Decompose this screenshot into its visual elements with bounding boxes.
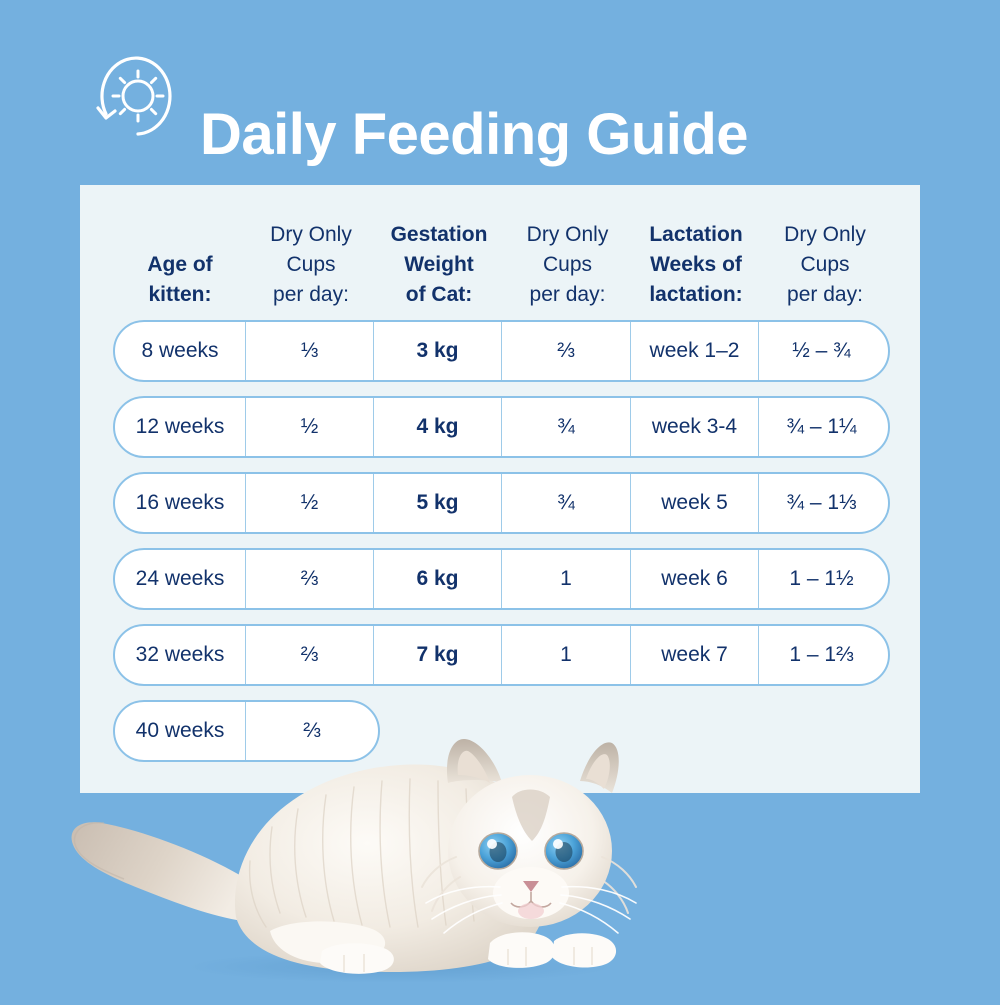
cell-kitten-cups: ½ [245, 398, 373, 456]
cell-cat-weight: 3 kg [373, 322, 501, 380]
column-header-line1: Weeks of [650, 250, 742, 280]
cell-lactation-cups: 1 – 1½ [758, 550, 884, 608]
cell-kitten-age: 12 weeks [115, 398, 245, 456]
cell-kitten-cups: ⅔ [245, 702, 378, 760]
feeding-guide-table: Age of kitten: Dry Only Cups per day: Ge… [113, 200, 890, 776]
column-header-gestation-cups: Dry Only Cups per day: [503, 220, 632, 320]
column-header-line2: per day: [530, 280, 606, 310]
cell-kitten-cups: ⅔ [245, 550, 373, 608]
column-header-top: Dry Only [527, 220, 609, 250]
column-header-line1: Cups [800, 250, 849, 280]
cell-cat-weight: 6 kg [373, 550, 501, 608]
cell-gestation-cups: ⅔ [501, 322, 630, 380]
page-header: Daily Feeding Guide [0, 0, 1000, 185]
cell-kitten-age: 16 weeks [115, 474, 245, 532]
cell-lactation-weeks: week 6 [630, 550, 758, 608]
cell-lactation-weeks: week 7 [630, 626, 758, 684]
cell-gestation-cups: 1 [501, 626, 630, 684]
cell-cat-weight: 7 kg [373, 626, 501, 684]
column-header-line2: kitten: [149, 280, 212, 310]
cell-lactation-weeks: week 3-4 [630, 398, 758, 456]
cell-kitten-cups: ⅔ [245, 626, 373, 684]
cell-lactation-cups: 1 – 1⅔ [758, 626, 884, 684]
cell-cat-weight: 5 kg [373, 474, 501, 532]
table-row: 16 weeks ½ 5 kg ¾ week 5 ¾ – 1⅓ [113, 472, 890, 534]
cell-gestation-cups: ¾ [501, 474, 630, 532]
cell-lactation-cups: ½ – ¾ [758, 322, 884, 380]
table-row: 8 weeks ⅓ 3 kg ⅔ week 1–2 ½ – ¾ [113, 320, 890, 382]
column-header-top: Lactation [649, 220, 742, 250]
column-header-line2: per day: [787, 280, 863, 310]
cell-kitten-cups: ½ [245, 474, 373, 532]
column-header-line1: Age of [147, 250, 212, 280]
cell-kitten-age: 40 weeks [115, 702, 245, 760]
cell-lactation-weeks: week 1–2 [630, 322, 758, 380]
column-header-line2: lactation: [649, 280, 742, 310]
column-header-line2: of Cat: [406, 280, 473, 310]
cell-cat-weight: 4 kg [373, 398, 501, 456]
cell-gestation-cups: 1 [501, 550, 630, 608]
cell-kitten-age: 8 weeks [115, 322, 245, 380]
cell-kitten-age: 24 weeks [115, 550, 245, 608]
table-row: 24 weeks ⅔ 6 kg 1 week 6 1 – 1½ [113, 548, 890, 610]
cell-lactation-cups: ¾ – 1⅓ [758, 474, 884, 532]
column-header-top: Dry Only [270, 220, 352, 250]
cell-lactation-cups: ¾ – 1¼ [758, 398, 884, 456]
column-header-kitten-age: Age of kitten: [113, 250, 247, 320]
cell-kitten-cups: ⅓ [245, 322, 373, 380]
column-header-top: Gestation [391, 220, 488, 250]
table-row: 40 weeks ⅔ [113, 700, 380, 762]
table-header-row: Age of kitten: Dry Only Cups per day: Ge… [113, 200, 890, 320]
column-header-top: Dry Only [784, 220, 866, 250]
column-header-line2: per day: [273, 280, 349, 310]
column-header-gestation-weight: Gestation Weight of Cat: [375, 220, 503, 320]
column-header-line1: Cups [543, 250, 592, 280]
table-row: 12 weeks ½ 4 kg ¾ week 3-4 ¾ – 1¼ [113, 396, 890, 458]
table-row: 32 weeks ⅔ 7 kg 1 week 7 1 – 1⅔ [113, 624, 890, 686]
sun-cycle-icon [94, 52, 182, 142]
page-title: Daily Feeding Guide [200, 97, 748, 173]
column-header-line1: Cups [286, 250, 335, 280]
column-header-lactation-weeks: Lactation Weeks of lactation: [632, 220, 760, 320]
cell-kitten-age: 32 weeks [115, 626, 245, 684]
column-header-line1: Weight [404, 250, 474, 280]
cell-gestation-cups: ¾ [501, 398, 630, 456]
column-header-kitten-cups: Dry Only Cups per day: [247, 220, 375, 320]
cell-lactation-weeks: week 5 [630, 474, 758, 532]
column-header-lactation-cups: Dry Only Cups per day: [760, 220, 890, 320]
